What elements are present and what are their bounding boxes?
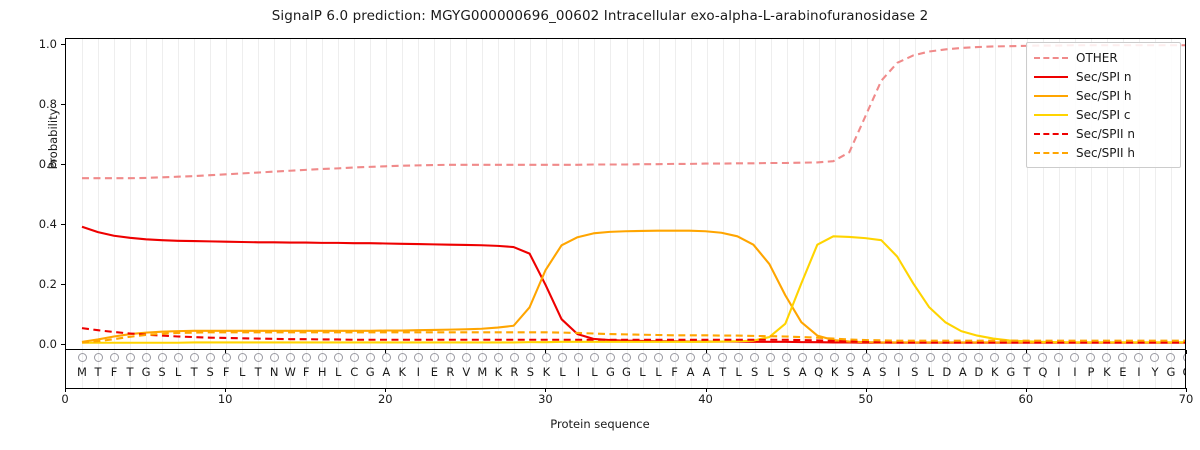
series-line-sec-spi-n [82, 227, 1185, 343]
legend-item-sec-spi-c[interactable]: Sec/SPI c [1034, 105, 1173, 124]
residue-marker [430, 353, 439, 362]
x-tick-label: 30 [515, 392, 575, 406]
residue-marker [862, 353, 871, 362]
residue-marker [1118, 353, 1127, 362]
x-tick-label: 10 [195, 392, 255, 406]
residue-marker [142, 353, 151, 362]
legend-item-sec-spi-h[interactable]: Sec/SPI h [1034, 86, 1173, 105]
residue-marker [446, 353, 455, 362]
x-tick-label: 60 [996, 392, 1056, 406]
residue-marker [334, 353, 343, 362]
x-tick-label: 50 [836, 392, 896, 406]
legend-label: Sec/SPI n [1076, 70, 1131, 84]
sequence-band: MTFTGSLTSFLTNWFHLCGAKIERVMKRSKLILGGLLFAA… [65, 350, 1186, 388]
residue-marker [974, 353, 983, 362]
residue-marker [414, 353, 423, 362]
residue-marker [1070, 353, 1079, 362]
residue-marker [734, 353, 743, 362]
legend-swatch-icon [1034, 90, 1068, 102]
axis-bottom-line [65, 388, 1186, 389]
residue-marker [158, 353, 167, 362]
y-tick-label: 0.8 [17, 97, 57, 111]
residue-marker [382, 353, 391, 362]
residue-marker [1102, 353, 1111, 362]
signalp-prediction-figure: SignalP 6.0 prediction: MGYG000000696_00… [0, 0, 1200, 450]
residue-marker [1006, 353, 1015, 362]
residue-marker [1054, 353, 1063, 362]
x-axis-label: Protein sequence [0, 417, 1200, 431]
residue-marker [830, 353, 839, 362]
y-axis-label: Probability [46, 39, 60, 239]
y-tick-label: 1.0 [17, 37, 57, 51]
residue-marker [574, 353, 583, 362]
residue-marker [542, 353, 551, 362]
residue-marker [1086, 353, 1095, 362]
residue-marker [222, 353, 231, 362]
residue-marker [702, 353, 711, 362]
residue-marker [798, 353, 807, 362]
residue-marker [462, 353, 471, 362]
residue-marker [1022, 353, 1031, 362]
residue-marker [126, 353, 135, 362]
residue-marker [478, 353, 487, 362]
legend-swatch-icon [1034, 128, 1068, 140]
residue-marker [494, 353, 503, 362]
legend-swatch-icon [1034, 147, 1068, 159]
legend-item-sec-spi-n[interactable]: Sec/SPI n [1034, 67, 1173, 86]
residue-marker [174, 353, 183, 362]
residue-marker [366, 353, 375, 362]
y-tick-label: 0.6 [17, 157, 57, 171]
y-tick-label: 0.4 [17, 217, 57, 231]
legend-swatch-icon [1034, 52, 1068, 64]
residue-marker [638, 353, 647, 362]
residue-marker [590, 353, 599, 362]
y-tick-label: 0.2 [17, 277, 57, 291]
residue-marker [398, 353, 407, 362]
residue-marker [766, 353, 775, 362]
plot-area [65, 38, 1186, 350]
series-line-sec-spi-c [82, 236, 1185, 342]
residue-marker [942, 353, 951, 362]
residue-marker [670, 353, 679, 362]
series-curves [66, 39, 1185, 349]
legend: OTHERSec/SPI nSec/SPI hSec/SPI cSec/SPII… [1026, 42, 1181, 168]
legend-item-sec-spii-n[interactable]: Sec/SPII n [1034, 124, 1173, 143]
x-tick-label: 40 [676, 392, 736, 406]
residue-marker [286, 353, 295, 362]
series-line-sec-spi-h [82, 231, 1185, 343]
residue-marker [990, 353, 999, 362]
residue-marker [814, 353, 823, 362]
residue-marker [526, 353, 535, 362]
residue-marker [622, 353, 631, 362]
residue-marker [958, 353, 967, 362]
legend-swatch-icon [1034, 71, 1068, 83]
residue-letter: Q [1175, 365, 1186, 379]
x-tick-label: 70 [1156, 392, 1200, 406]
residue-marker [1183, 353, 1187, 362]
legend-item-sec-spii-h[interactable]: Sec/SPII h [1034, 143, 1173, 162]
x-tick-mark [1186, 350, 1187, 354]
residue-marker [686, 353, 695, 362]
residue-marker [782, 353, 791, 362]
x-tick-label: 20 [355, 392, 415, 406]
residue-marker [510, 353, 519, 362]
legend-label: Sec/SPI c [1076, 108, 1130, 122]
chart-title: SignalP 6.0 prediction: MGYG000000696_00… [0, 8, 1200, 24]
residue-marker [254, 353, 263, 362]
residue-marker [750, 353, 759, 362]
series-line-other [82, 45, 1185, 178]
residue-marker [1166, 353, 1175, 362]
residue-marker [606, 353, 615, 362]
residue-marker [878, 353, 887, 362]
legend-label: Sec/SPI h [1076, 89, 1131, 103]
x-tick-label: 0 [35, 392, 95, 406]
residue-marker [270, 353, 279, 362]
residue-marker [110, 353, 119, 362]
residue-marker [1150, 353, 1159, 362]
residue-marker [94, 353, 103, 362]
residue-marker [894, 353, 903, 362]
residue-marker [206, 353, 215, 362]
residue-marker [238, 353, 247, 362]
residue-marker [1134, 353, 1143, 362]
residue-marker [350, 353, 359, 362]
residue-marker [318, 353, 327, 362]
residue-marker [1038, 353, 1047, 362]
legend-swatch-icon [1034, 109, 1068, 121]
residue-marker [190, 353, 199, 362]
residue-marker [718, 353, 727, 362]
legend-label: Sec/SPII n [1076, 127, 1135, 141]
residue-marker [926, 353, 935, 362]
residue-marker [302, 353, 311, 362]
residue-marker [78, 353, 87, 362]
legend-label: OTHER [1076, 51, 1118, 65]
residue-marker [846, 353, 855, 362]
x-tick-mark [1186, 388, 1187, 392]
residue-marker [910, 353, 919, 362]
legend-item-other[interactable]: OTHER [1034, 48, 1173, 67]
residue-marker [558, 353, 567, 362]
legend-label: Sec/SPII h [1076, 146, 1135, 160]
residue-marker [654, 353, 663, 362]
y-tick-label: 0.0 [17, 337, 57, 351]
